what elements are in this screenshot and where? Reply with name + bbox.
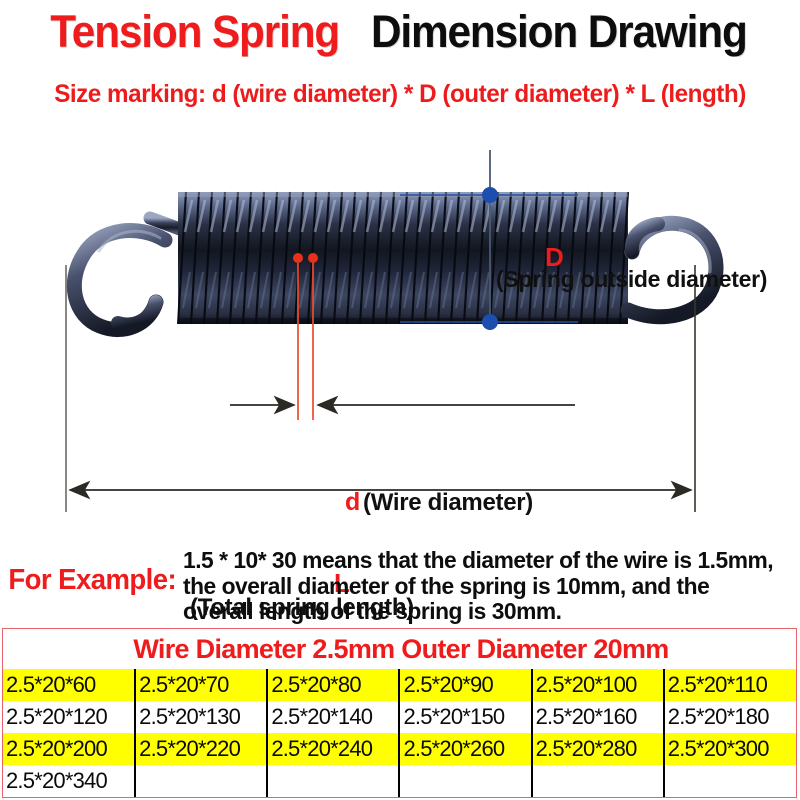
- size-cell: 2.5*20*110: [664, 669, 796, 701]
- size-cell: [399, 765, 531, 797]
- table-row: 2.5*20*340: [3, 765, 796, 797]
- table-row: 2.5*20*602.5*20*702.5*20*802.5*20*902.5*…: [3, 669, 796, 701]
- table-row: 2.5*20*1202.5*20*1302.5*20*1402.5*20*150…: [3, 701, 796, 733]
- size-cell: 2.5*20*220: [135, 733, 267, 765]
- example-text: 1.5 * 10* 30 means that the diameter of …: [183, 548, 780, 625]
- size-table-header-row: Wire Diameter 2.5mm Outer Diameter 20mm: [3, 629, 796, 669]
- size-cell: [267, 765, 399, 797]
- size-cell: 2.5*20*260: [399, 733, 531, 765]
- page-title: Tension Spring Dimension Drawing: [0, 4, 800, 60]
- outer-diameter-top-marker: [482, 187, 498, 203]
- spring-icon: [74, 192, 716, 330]
- size-cell: 2.5*20*180: [664, 701, 796, 733]
- example-label: For Example:: [8, 564, 176, 597]
- size-table: Wire Diameter 2.5mm Outer Diameter 20mm …: [2, 628, 797, 798]
- spring-left-hook: [74, 218, 188, 330]
- page-title-rest: Dimension Drawing: [371, 6, 747, 58]
- outer-diameter-caption: (Spring outside diameter): [496, 266, 767, 293]
- size-cell: 2.5*20*340: [3, 765, 135, 797]
- page-title-highlight: Tension Spring: [51, 6, 340, 58]
- wire-diameter-symbol: d: [345, 488, 360, 517]
- size-cell: [135, 765, 267, 797]
- size-cell: 2.5*20*120: [3, 701, 135, 733]
- size-cell: [664, 765, 796, 797]
- size-cell: 2.5*20*300: [664, 733, 796, 765]
- wire-diameter-left-marker: [293, 253, 303, 263]
- example-section: For Example: 1.5 * 10* 30 means that the…: [0, 548, 800, 626]
- outer-diameter-bottom-marker: [482, 314, 498, 330]
- size-marking-subtitle: Size marking: d (wire diameter) * D (out…: [12, 80, 788, 109]
- size-cell: 2.5*20*100: [532, 669, 664, 701]
- size-cell: 2.5*20*240: [267, 733, 399, 765]
- size-cell: 2.5*20*60: [3, 669, 135, 701]
- size-cell: 2.5*20*70: [135, 669, 267, 701]
- dimension-diagram: D (Spring outside diameter) d (Wire diam…: [0, 120, 800, 530]
- diagram-vector-layer: [0, 120, 800, 530]
- size-cell: [532, 765, 664, 797]
- wire-diameter-caption: (Wire diameter): [363, 489, 533, 517]
- size-cell: 2.5*20*90: [399, 669, 531, 701]
- size-cell: 2.5*20*200: [3, 733, 135, 765]
- wire-diameter-right-marker: [308, 253, 318, 263]
- size-table-header: Wire Diameter 2.5mm Outer Diameter 20mm: [3, 629, 796, 669]
- size-cell: 2.5*20*160: [532, 701, 664, 733]
- table-row: 2.5*20*2002.5*20*2202.5*20*2402.5*20*260…: [3, 733, 796, 765]
- spring-dimension-drawing-page: Tension Spring Dimension Drawing Size ma…: [0, 0, 800, 800]
- size-cell: 2.5*20*280: [532, 733, 664, 765]
- size-cell: 2.5*20*150: [399, 701, 531, 733]
- size-cell: 2.5*20*80: [267, 669, 399, 701]
- size-cell: 2.5*20*130: [135, 701, 267, 733]
- size-cell: 2.5*20*140: [267, 701, 399, 733]
